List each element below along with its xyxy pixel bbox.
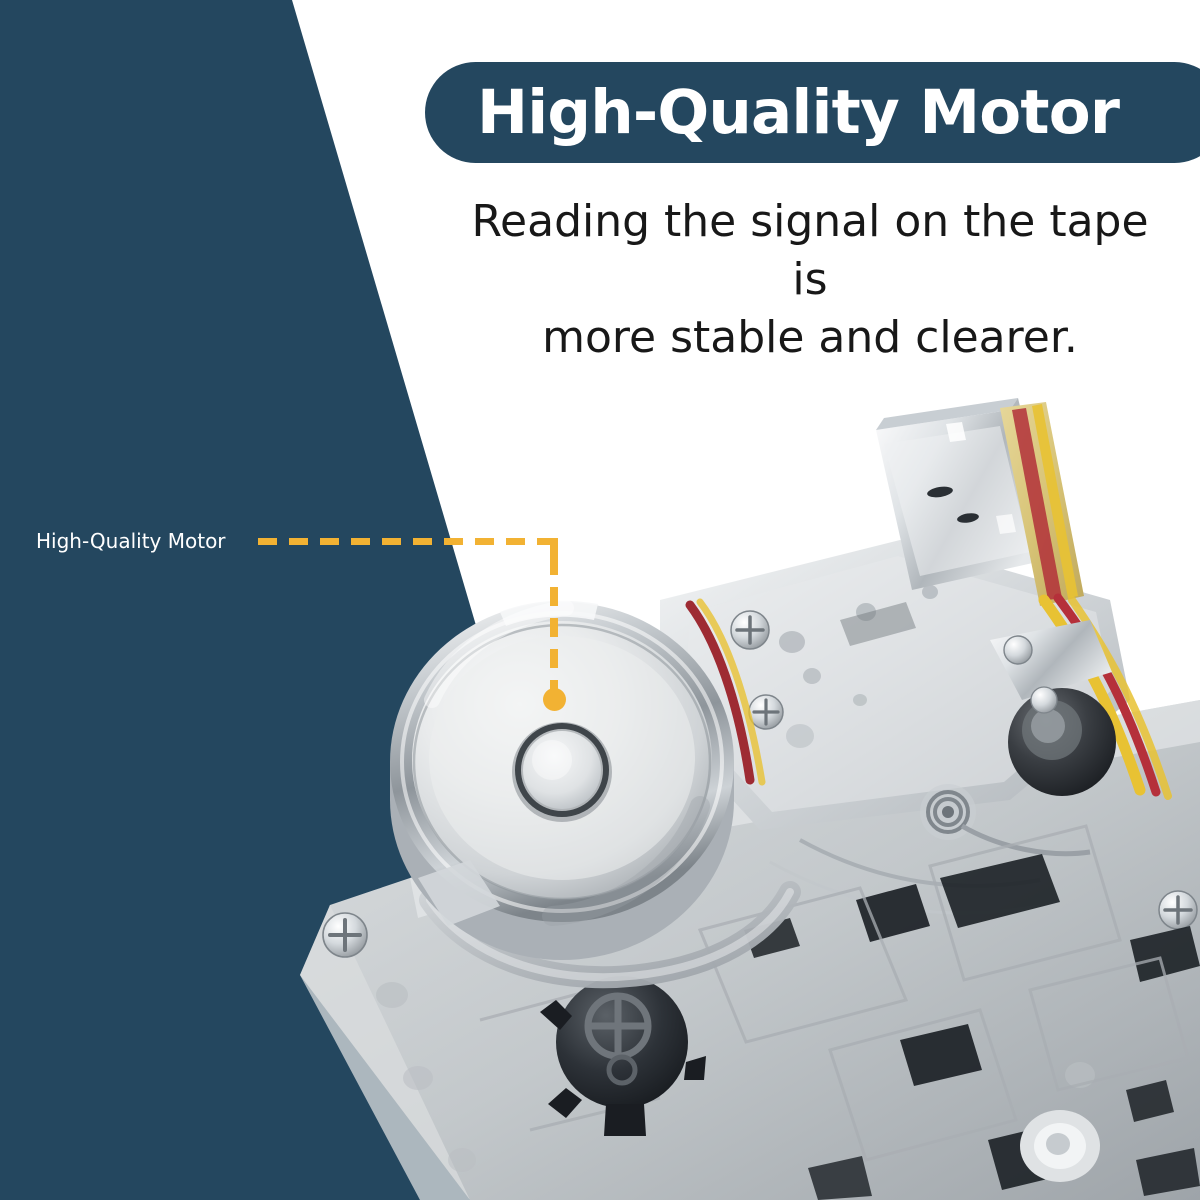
callout-marker-dot bbox=[543, 688, 566, 711]
callout-leader-horizontal bbox=[258, 538, 558, 545]
infographic-canvas: High-Quality Motor Reading the signal on… bbox=[0, 0, 1200, 1200]
callout-label: High-Quality Motor bbox=[36, 531, 226, 551]
product-photo bbox=[0, 0, 1200, 1200]
callout-leader-vertical bbox=[550, 556, 558, 692]
secondary-spindle bbox=[1020, 1110, 1100, 1182]
